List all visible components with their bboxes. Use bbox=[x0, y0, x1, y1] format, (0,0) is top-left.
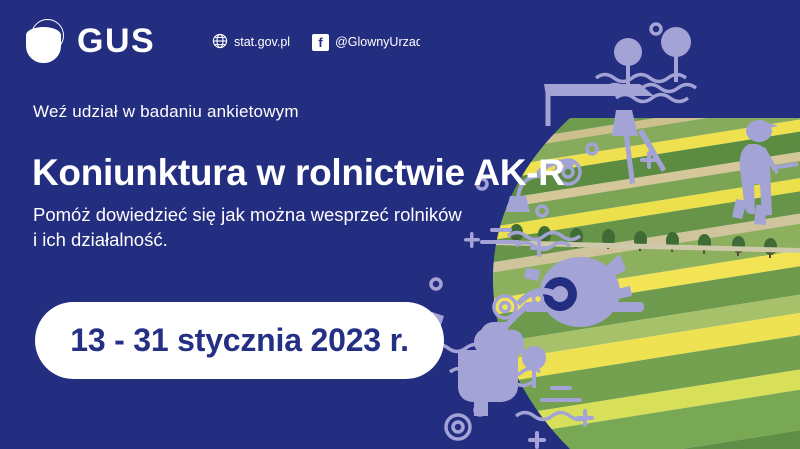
date-badge-label: 13 - 31 stycznia 2023 r. bbox=[70, 322, 409, 359]
social-link-website[interactable]: stat.gov.pl bbox=[212, 33, 290, 52]
farmer-with-hoe-icon bbox=[732, 120, 798, 225]
facebook-icon: f bbox=[312, 34, 329, 51]
gus-survey-banner: GUS stat.gov.pl f @GlownyUrzadStatyst bbox=[0, 0, 800, 449]
farm-illustration bbox=[420, 0, 800, 449]
social-label-website: stat.gov.pl bbox=[234, 36, 290, 49]
banner-subtitle: Pomóż dowiedzieć się jak można wesprzeć … bbox=[33, 203, 462, 252]
gus-bucket-logo-icon bbox=[25, 18, 71, 64]
banner-kicker: Weź udział w badaniu ankietowym bbox=[33, 102, 299, 122]
subtitle-line-1: Pomóż dowiedzieć się jak można wesprzeć … bbox=[33, 203, 462, 228]
sprayer-machine-icon bbox=[612, 110, 666, 184]
plus-sign-icon bbox=[576, 409, 594, 427]
target-circle-icon bbox=[494, 296, 516, 318]
page-title: Koniunktura w rolnictwie AK-R bbox=[32, 152, 565, 194]
gus-logo-text: GUS bbox=[77, 24, 155, 58]
plus-sign-icon bbox=[530, 239, 548, 257]
tree-icon bbox=[522, 346, 546, 388]
artwork-panel bbox=[420, 0, 800, 449]
date-badge[interactable]: 13 - 31 stycznia 2023 r. bbox=[35, 302, 444, 379]
gus-logo[interactable]: GUS bbox=[25, 18, 155, 64]
globe-icon bbox=[212, 33, 228, 52]
subtitle-line-2: i ich działalność. bbox=[33, 228, 462, 253]
